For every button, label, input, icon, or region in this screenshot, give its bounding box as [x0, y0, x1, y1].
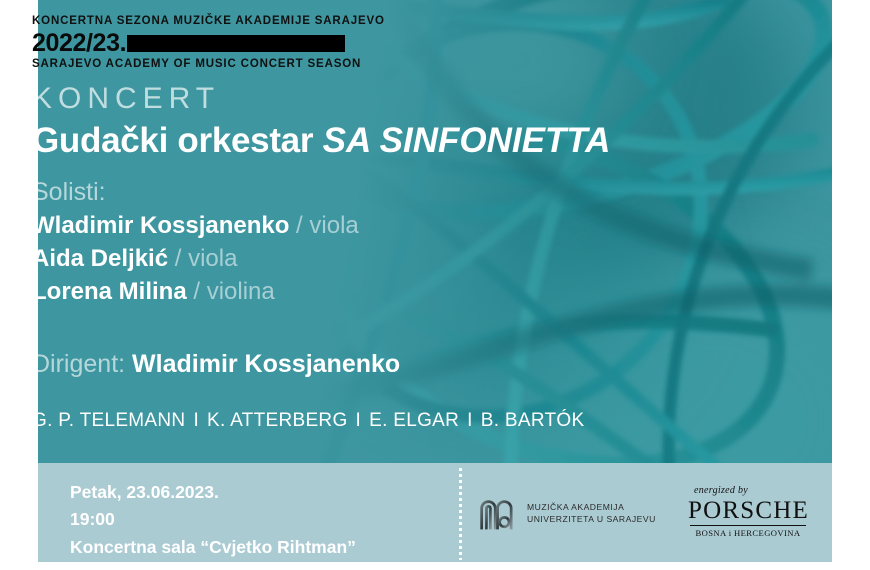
season-year: 2022/23. [32, 31, 126, 56]
conductor-name: Wladimir Kossjanenko [132, 350, 400, 378]
soloist-name: Aida Deljkić [32, 245, 168, 272]
event-type-label: KONCERT [32, 82, 772, 115]
soloist-instrument: viola [309, 212, 358, 239]
ma-monogram-icon [478, 493, 518, 533]
sponsor-wordmark: PORSCHE [688, 498, 808, 524]
academy-logo: MUZIČKA AKADEMIJA UNIVERZITETA U SARAJEV… [478, 493, 656, 533]
soloist-row: Lorena Milina / violina [32, 275, 772, 308]
poster-content: KONCERT Gudački orkestar SA SINFONIETTA … [32, 82, 772, 432]
ensemble-title-regular: Gudački orkestar [32, 121, 323, 160]
sponsor-tagline: energized by [688, 485, 808, 497]
sponsor-rule [690, 525, 806, 526]
composers-list: G. P. TELEMANNIK. ATTERBERGIE. ELGARIB. … [32, 410, 772, 432]
composer-item: G. P. TELEMANN [32, 410, 185, 431]
event-time: 19:00 [70, 506, 356, 533]
ensemble-title-italic: SA SINFONIETTA [323, 121, 611, 160]
season-header: KONCERTNA SEZONA MUZIČKE AKADEMIJE SARAJ… [32, 14, 385, 72]
poster-footer-band: Petak, 23.06.2023. 19:00 Koncertna sala … [38, 463, 832, 562]
soloist-separator: / [289, 212, 309, 239]
academy-name: MUZIČKA AKADEMIJA UNIVERZITETA U SARAJEV… [527, 501, 656, 526]
season-title-en: SARAJEVO ACADEMY OF MUSIC CONCERT SEASON [32, 57, 385, 73]
composer-item: B. BARTÓK [481, 410, 585, 431]
soloist-name: Wladimir Kossjanenko [32, 212, 289, 239]
event-details: Petak, 23.06.2023. 19:00 Koncertna sala … [70, 479, 356, 561]
composer-separator: I [459, 410, 481, 431]
soloist-name: Lorena Milina [32, 278, 187, 305]
soloist-row: Wladimir Kossjanenko / viola [32, 209, 772, 242]
season-year-row: 2022/23. [32, 31, 385, 56]
composer-item: E. ELGAR [369, 410, 459, 431]
sponsor-logo: energized by PORSCHE BOSNA i HERCEGOVINA [688, 485, 808, 539]
ensemble-title: Gudački orkestar SA SINFONIETTA [32, 121, 772, 161]
conductor-label: Dirigent: [32, 350, 132, 378]
concert-poster: KONCERTNA SEZONA MUZIČKE AKADEMIJE SARAJ… [0, 0, 870, 570]
soloist-row: Aida Deljkić / viola [32, 242, 772, 275]
season-title-bs: KONCERTNA SEZONA MUZIČKE AKADEMIJE SARAJ… [32, 14, 385, 30]
composer-item: K. ATTERBERG [207, 410, 348, 431]
composer-separator: I [185, 410, 207, 431]
soloist-separator: / [168, 245, 188, 272]
event-venue: Koncertna sala “Cvjetko Rihtman” [70, 534, 356, 561]
soloist-separator: / [187, 278, 207, 305]
soloist-instrument: viola [188, 245, 237, 272]
dotted-divider [459, 468, 462, 560]
academy-line-1: MUZIČKA AKADEMIJA [527, 501, 656, 513]
sponsor-region: BOSNA i HERCEGOVINA [688, 528, 808, 538]
conductor-row: Dirigent: Wladimir Kossjanenko [32, 348, 772, 381]
redaction-bar [127, 35, 345, 52]
academy-line-2: UNIVERZITETA U SARAJEVU [527, 513, 656, 525]
soloists-label: Solisti: [32, 177, 772, 208]
event-date: Petak, 23.06.2023. [70, 479, 356, 506]
soloist-instrument: violina [207, 278, 275, 305]
composer-separator: I [348, 410, 370, 431]
